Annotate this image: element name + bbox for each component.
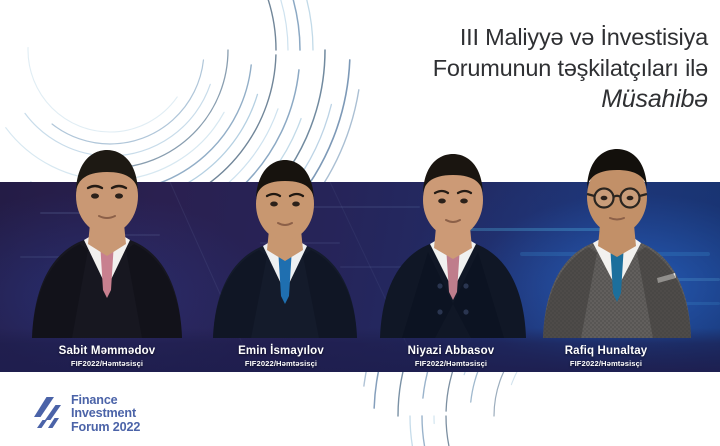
portrait-figure	[535, 123, 700, 338]
person-name: Emin İsmayılov	[191, 345, 371, 357]
portrait-figure	[205, 128, 365, 338]
caption-person-3: Niyazi Abbasov FIF2022/Həmtəsisçi	[361, 345, 541, 368]
logo-line-2: Investment	[71, 407, 140, 420]
logo-line-3: Forum 2022	[71, 421, 140, 434]
headline-line-3-emphasis: Müsahibə	[288, 84, 708, 115]
person-name: Sabit Məmmədov	[17, 345, 197, 357]
portrait-person-4	[535, 123, 700, 338]
person-role: FIF2022/Həmtəsisçi	[516, 359, 696, 368]
caption-person-2: Emin İsmayılov FIF2022/Həmtəsisçi	[191, 345, 371, 368]
person-role: FIF2022/Həmtəsisçi	[361, 359, 541, 368]
portrait-person-1	[22, 120, 192, 338]
caption-person-4: Rafiq Hunaltay FIF2022/Həmtəsisçi	[516, 345, 696, 368]
person-role: FIF2022/Həmtəsisçi	[191, 359, 371, 368]
fif-logo: Finance Investment Forum 2022	[34, 394, 140, 434]
portrait-group: Sabit Məmmədov FIF2022/Həmtəsisçi Emin İ…	[0, 120, 720, 372]
headline-line-2: Forumunun təşkilatçıları ilə	[288, 53, 708, 84]
logo-wordmark: Finance Investment Forum 2022	[71, 394, 140, 434]
person-name: Niyazi Abbasov	[361, 345, 541, 357]
portrait-person-2	[205, 128, 365, 338]
portrait-person-3	[372, 126, 534, 338]
portrait-figure	[22, 120, 192, 338]
person-name: Rafiq Hunaltay	[516, 345, 696, 357]
logo-line-1: Finance	[71, 394, 140, 407]
ascending-bars-arrow-icon	[34, 397, 64, 431]
headline-line-1: III Maliyyə və İnvestisiya	[288, 22, 708, 53]
poster-canvas: III Maliyyə və İnvestisiya Forumunun təş…	[0, 0, 720, 446]
caption-person-1: Sabit Məmmədov FIF2022/Həmtəsisçi	[17, 345, 197, 368]
person-role: FIF2022/Həmtəsisçi	[17, 359, 197, 368]
headline: III Maliyyə və İnvestisiya Forumunun təş…	[288, 22, 708, 115]
portrait-figure	[372, 126, 534, 338]
